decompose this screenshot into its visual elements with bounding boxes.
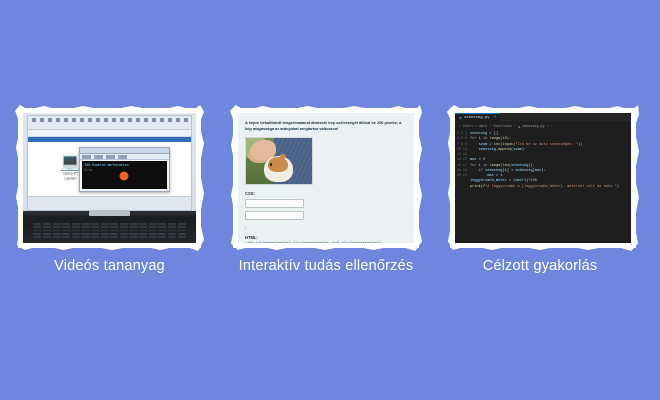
breadcrumb-separator: > xyxy=(475,125,477,129)
laptop-screen: 💻 Laptop-PT Laptop0 SSH-Enabled Workstat… xyxy=(27,115,192,211)
close-icon[interactable]: × xyxy=(494,116,497,120)
chevron-right-icon: › xyxy=(459,125,461,129)
photo-background: 💻 Laptop-PT Laptop0 SSH-Enabled Workstat… xyxy=(23,113,196,243)
card-practice[interactable]: ⬥ sebesseg.py × › Users > mark > Downloa… xyxy=(450,108,636,248)
code-area[interactable]: sebesseg = [] for i in range(10): szam =… xyxy=(470,131,631,243)
editor-tab-label: sebesseg.py xyxy=(464,116,490,120)
guinea-pig-image xyxy=(245,137,313,185)
caption-quiz: Interaktív tudás ellenőrzés xyxy=(225,258,427,274)
packet-tracer-toolbar xyxy=(28,130,191,137)
breadcrumb[interactable]: › Users > mark > Downloads > ⬥ sebesseg.… xyxy=(455,123,631,131)
breadcrumb-separator: > xyxy=(489,125,491,129)
semicolon-text: ; xyxy=(245,224,407,229)
packet-tracer-menubar xyxy=(28,116,191,130)
laptop-keyboard xyxy=(33,223,185,238)
packet-tracer-canvas: 💻 Laptop-PT Laptop0 SSH-Enabled Workstat… xyxy=(28,142,191,196)
terminal-window[interactable]: SSH-Enabled Workstation C:\> xyxy=(79,147,170,191)
card-video[interactable]: 💻 Laptop-PT Laptop0 SSH-Enabled Workstat… xyxy=(18,108,201,248)
vscode-screenshot: ⬥ sebesseg.py × › Users > mark > Downloa… xyxy=(455,113,631,243)
terminal-body: SSH-Enabled Workstation C:\> xyxy=(82,161,167,188)
breadcrumb-separator: > xyxy=(514,125,516,129)
html-code-snippet: <img id="tengerimalac" src="tengerimalac… xyxy=(245,242,407,243)
packet-tracer-statusbar xyxy=(28,196,191,210)
editor-body: 1 2 3 4 5 6 7 8 9 10 11 12 13 14 15 16 1… xyxy=(455,131,631,243)
vscode-editor: ⬥ sebesseg.py × › Users > mark > Downloa… xyxy=(455,113,631,243)
quiz-page: A képre bekattintott tengerimalacot ábrá… xyxy=(238,113,414,243)
breadcrumb-item-4[interactable]: ... xyxy=(551,125,557,129)
caption-practice: Célzott gyakorlás xyxy=(440,258,640,274)
breadcrumb-item-1[interactable]: mark xyxy=(479,125,487,129)
caption-video: Videós tananyag xyxy=(18,258,201,274)
editor-tabbar: ⬥ sebesseg.py × xyxy=(455,113,631,123)
html-label: HTML: xyxy=(245,235,407,240)
breadcrumb-item-0[interactable]: Users xyxy=(463,125,473,129)
css-input-1[interactable] xyxy=(245,199,304,208)
orange-highlight-dot xyxy=(120,171,129,180)
terminal-tabs[interactable] xyxy=(80,154,169,160)
css-input-2[interactable] xyxy=(245,211,304,220)
python-file-icon: ⬥ xyxy=(518,125,520,130)
quiz-screenshot: A képre bekattintott tengerimalacot ábrá… xyxy=(238,113,414,243)
laptop-photo: 💻 Laptop-PT Laptop0 SSH-Enabled Workstat… xyxy=(23,113,196,243)
line-number-gutter: 1 2 3 4 5 6 7 8 9 10 11 12 13 14 15 16 1… xyxy=(455,131,470,243)
breadcrumb-separator: > xyxy=(547,125,549,129)
breadcrumb-item-3[interactable]: sebesseg.py xyxy=(522,125,544,129)
python-file-icon: ⬥ xyxy=(459,116,462,121)
slide-root: 💻 Laptop-PT Laptop0 SSH-Enabled Workstat… xyxy=(0,0,660,400)
card-quiz[interactable]: A képre bekattintott tengerimalacot ábrá… xyxy=(233,108,419,248)
task-instruction: A képre bekattintott tengerimalacot ábrá… xyxy=(245,120,407,132)
css-label: CSS: xyxy=(245,191,407,196)
laptop-hinge xyxy=(89,211,131,216)
editor-tab-sebesseg[interactable]: ⬥ sebesseg.py × xyxy=(455,113,500,123)
breadcrumb-item-2[interactable]: Downloads xyxy=(493,125,511,129)
